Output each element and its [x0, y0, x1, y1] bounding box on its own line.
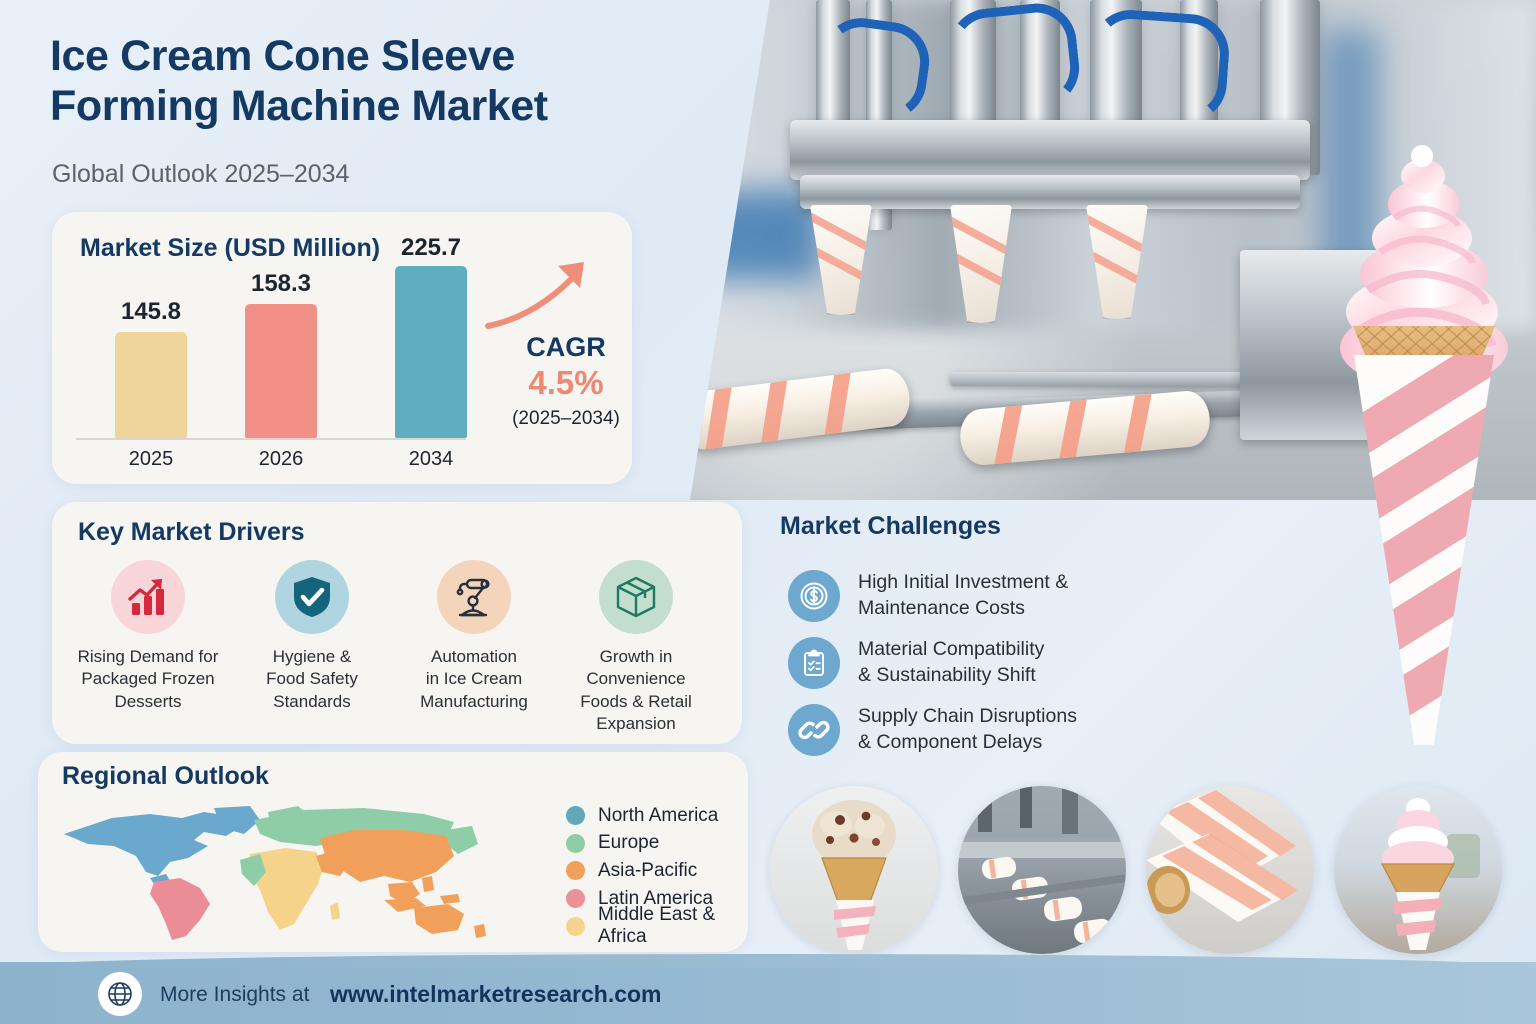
- market-size-title: Market Size (USD Million): [80, 234, 380, 263]
- driver-label-1: Hygiene &Food SafetyStandards: [230, 646, 394, 713]
- map-region-new-zealand: [474, 924, 486, 938]
- challenge-text-0: High Initial Investment & Maintenance Co…: [858, 570, 1068, 621]
- regional-title: Regional Outlook: [62, 762, 269, 791]
- package-box-icon: [599, 560, 673, 634]
- ice-cream-scoop-cone-photo: [770, 786, 938, 954]
- hero-ice-cream-cone: [1322, 140, 1522, 750]
- growth-chart-icon: [111, 560, 185, 634]
- title-line-2: Forming Machine Market: [50, 82, 690, 132]
- legend-item-asia-pacific: Asia-Pacific: [566, 857, 748, 885]
- driver-item-0: Rising Demand forPackaged FrozenDesserts: [66, 560, 230, 713]
- chain-link-icon: [788, 704, 840, 756]
- challenge-line-2: & Component Delays: [858, 730, 1077, 756]
- cagr-range: (2025–2034): [486, 408, 646, 430]
- legend-label: Europe: [598, 832, 659, 854]
- bar-value-2025: 145.8: [96, 298, 206, 326]
- challenge-item-0: High Initial Investment & Maintenance Co…: [788, 570, 1068, 622]
- drivers-title: Key Market Drivers: [78, 518, 305, 547]
- legend-label: Asia-Pacific: [598, 860, 697, 882]
- driver-label-3: Growth in ConvenienceFoods & RetailExpan…: [554, 646, 718, 736]
- soft-serve-cone-photo: [1334, 786, 1502, 954]
- bar-label-2025: 2025: [96, 448, 206, 471]
- shield-check-icon: [275, 560, 349, 634]
- growth-arrow-icon: [482, 256, 602, 336]
- bar-2026: [245, 304, 317, 438]
- legend-item-europe: Europe: [566, 830, 748, 858]
- page-subtitle: Global Outlook 2025–2034: [52, 160, 349, 189]
- map-region-north-america: [64, 812, 242, 876]
- challenge-text-2: Supply Chain Disruptions & Component Del…: [858, 704, 1077, 755]
- cagr-label: CAGR: [486, 332, 646, 363]
- cone-sleeve-conveyor-photo: [958, 786, 1126, 954]
- world-map: [54, 800, 534, 940]
- blue-hose: [945, 0, 1083, 116]
- more-insights-label: More Insights at: [160, 983, 309, 1007]
- challenge-line-2: & Sustainability Shift: [858, 663, 1044, 689]
- blue-hose: [1086, 7, 1231, 124]
- challenge-item-2: Supply Chain Disruptions & Component Del…: [788, 704, 1077, 756]
- chart-baseline: [76, 438, 466, 440]
- challenge-text-1: Material Compatibility & Sustainability …: [858, 637, 1044, 688]
- driver-item-1: Hygiene &Food SafetyStandards: [230, 560, 394, 713]
- bar-value-2026: 158.3: [226, 270, 336, 298]
- challenge-line-1: Supply Chain Disruptions: [858, 704, 1077, 730]
- driver-item-3: Growth in ConvenienceFoods & RetailExpan…: [554, 560, 718, 736]
- map-region-australia: [414, 904, 464, 934]
- clipboard-check-icon: [788, 637, 840, 689]
- challenge-item-1: Material Compatibility & Sustainability …: [788, 637, 1044, 689]
- cagr-value: 4.5%: [486, 364, 646, 402]
- blue-equipment-blur: [680, 190, 820, 280]
- striped-paper-sleeves-photo: [1146, 786, 1314, 954]
- challenge-line-2: Maintenance Costs: [858, 596, 1068, 622]
- legend-item-north-america: North America: [566, 802, 748, 830]
- legend-label: Middle East & Africa: [598, 904, 748, 948]
- map-region-south-america: [150, 878, 210, 940]
- page-title: Ice Cream Cone Sleeve Forming Machine Ma…: [50, 32, 690, 132]
- challenge-line-1: High Initial Investment &: [858, 570, 1068, 596]
- rotary-filling-head: [790, 120, 1310, 180]
- driver-label-0: Rising Demand forPackaged FrozenDesserts: [66, 646, 230, 713]
- title-line-1: Ice Cream Cone Sleeve: [50, 32, 690, 82]
- map-region-madagascar: [330, 902, 340, 920]
- robot-arm-icon: [437, 560, 511, 634]
- challenge-line-1: Material Compatibility: [858, 637, 1044, 663]
- region-legend: North America Europe Asia-Pacific Latin …: [566, 802, 748, 940]
- bar-2025: [115, 332, 187, 438]
- map-region-philippines: [422, 876, 434, 892]
- legend-item-middle-east-africa: Middle East & Africa: [566, 912, 748, 940]
- website-url-link[interactable]: www.intelmarketresearch.com: [330, 981, 662, 1008]
- bar-label-2026: 2026: [226, 448, 336, 471]
- driver-label-2: Automationin Ice CreamManufacturing: [392, 646, 556, 713]
- legend-label: North America: [598, 805, 718, 827]
- paper-cone-sleeve: [1354, 355, 1494, 745]
- regional-outlook-card: Regional Outlook: [38, 752, 748, 952]
- driver-item-2: Automationin Ice CreamManufacturing: [392, 560, 556, 713]
- dollar-coin-icon: [788, 570, 840, 622]
- infographic-root: Ice Cream Cone Sleeve Forming Machine Ma…: [0, 0, 1536, 1024]
- market-size-card: Market Size (USD Million) 145.8 158.3 22…: [52, 212, 632, 484]
- challenges-title: Market Challenges: [780, 512, 1001, 541]
- key-market-drivers-card: Key Market Drivers Rising Demand forPack…: [52, 502, 742, 744]
- bar-value-2034: 225.7: [376, 234, 486, 262]
- globe-icon: [98, 972, 142, 1016]
- machine-head-plate: [800, 175, 1300, 209]
- bar-label-2034: 2034: [376, 448, 486, 471]
- bar-2034: [395, 266, 467, 438]
- map-region-png: [440, 894, 460, 904]
